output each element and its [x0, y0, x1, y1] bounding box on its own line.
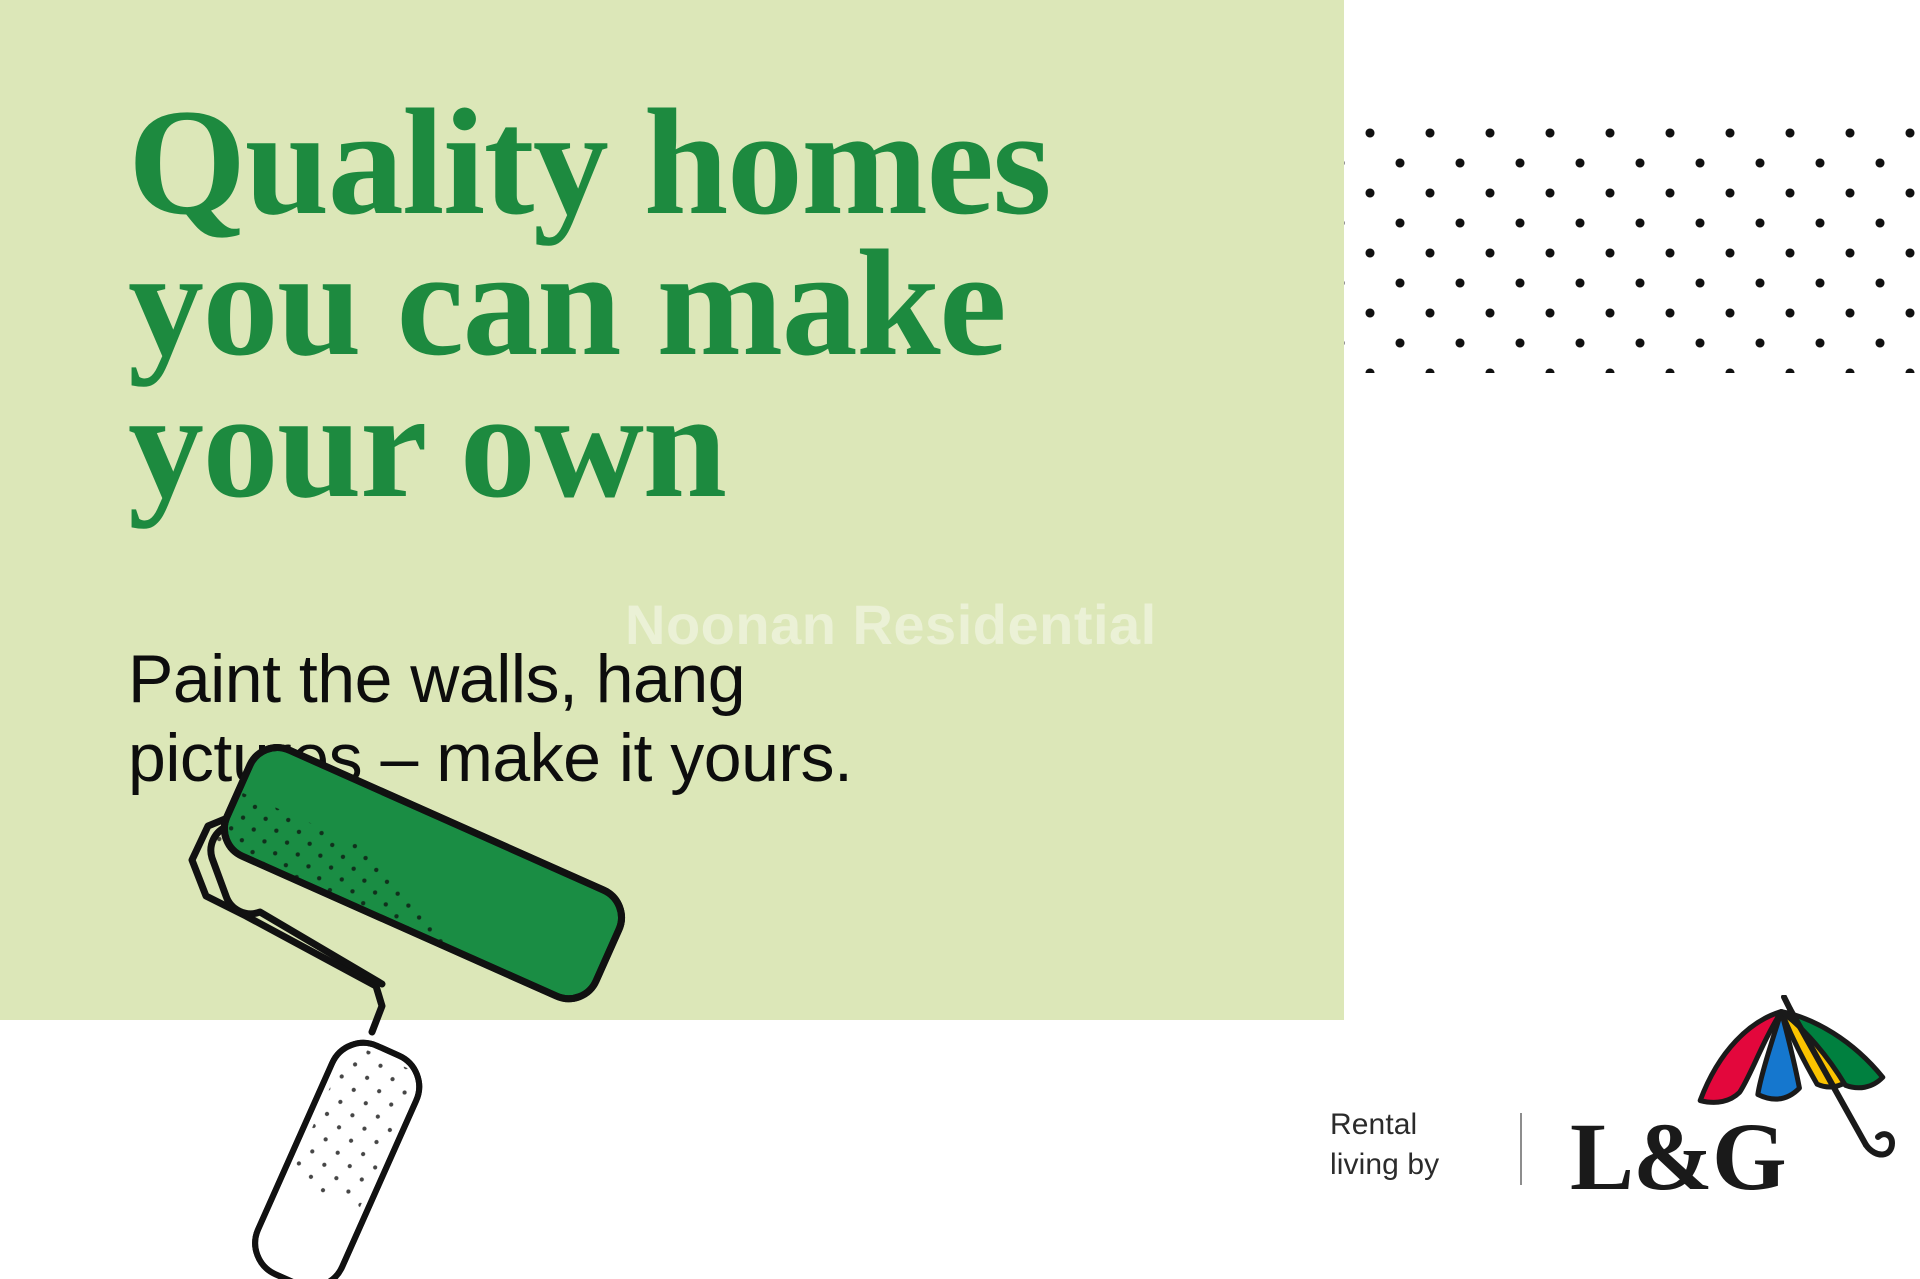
- logo-byline: Rental living by: [1330, 1105, 1439, 1184]
- logo-byline-line-2: living by: [1330, 1145, 1439, 1185]
- logo-byline-line-1: Rental: [1330, 1105, 1439, 1145]
- dot-grid-pattern-icon: [1245, 128, 1920, 373]
- headline-line-3: your own: [128, 375, 1248, 516]
- paint-roller-illustration: [150, 740, 710, 1279]
- paint-roller-icon: [150, 740, 710, 1279]
- lg-wordmark: L&G: [1570, 1109, 1786, 1205]
- logo-lockup: Rental living by: [1330, 1005, 1920, 1235]
- headline-line-1: Quality homes: [128, 92, 1248, 233]
- page-title: Quality homes you can make your own: [128, 92, 1248, 516]
- subheading-line-1: Paint the walls, hang: [128, 640, 1138, 719]
- headline-line-2: you can make: [128, 233, 1248, 374]
- lg-logo: L&G: [1562, 999, 1920, 1229]
- logo-divider: [1520, 1113, 1522, 1185]
- poster-canvas: Noonan Residential Quality homes you can…: [0, 0, 1920, 1279]
